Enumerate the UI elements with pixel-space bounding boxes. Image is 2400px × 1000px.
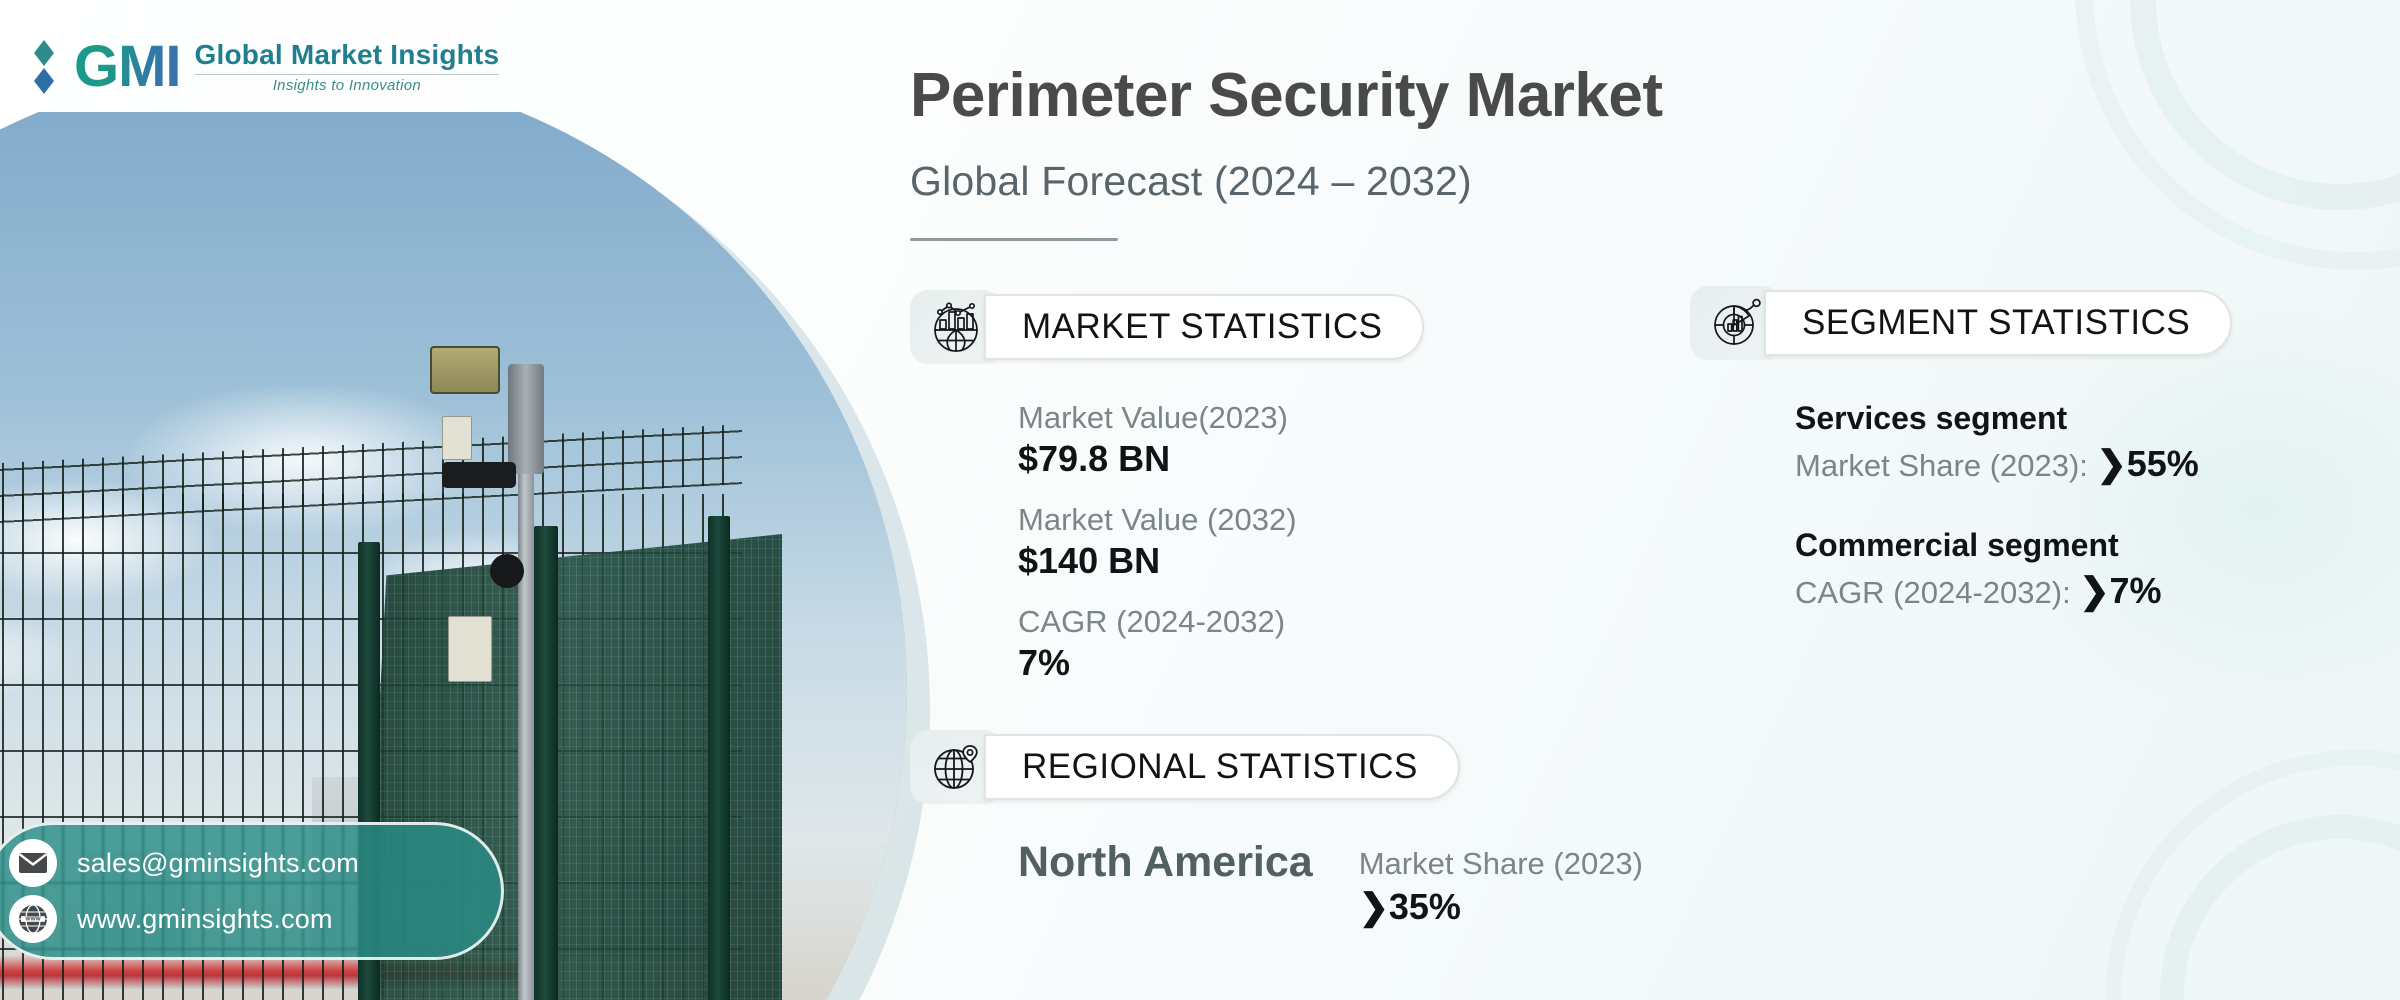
region-metric-value: ❯35% bbox=[1359, 886, 1643, 928]
page-title: Perimeter Security Market bbox=[910, 60, 1663, 131]
region-metric-label: Market Share (2023) bbox=[1359, 846, 1643, 882]
market-stat-label: Market Value (2032) bbox=[1018, 502, 1297, 538]
photo-mast-housing bbox=[508, 364, 544, 474]
logo-tagline: Insights to Innovation bbox=[195, 77, 500, 94]
content-column: Perimeter Security Market Global Forecas… bbox=[900, 0, 2400, 1000]
segment-metric-value: ❯7% bbox=[2079, 570, 2161, 611]
segment-metric-row: Market Share (2023): ❯55% bbox=[1795, 443, 2199, 485]
market-stat-row: Market Value (2032) $140 BN bbox=[1018, 502, 1297, 582]
spacer bbox=[1018, 582, 1297, 604]
photo-cctv-camera bbox=[442, 462, 516, 488]
logo-text-block: Global Market Insights Insights to Innov… bbox=[195, 40, 500, 94]
photo-fence-post-2 bbox=[534, 526, 558, 1000]
market-statistics-body: Market Value(2023) $79.8 BN Market Value… bbox=[1018, 400, 1297, 684]
region-metric-block: Market Share (2023) ❯35% bbox=[1359, 840, 1643, 928]
market-stat-row: Market Value(2023) $79.8 BN bbox=[1018, 400, 1297, 480]
market-statistics-header[interactable]: MARKET STATISTICS bbox=[910, 290, 1424, 364]
market-stat-value: 7% bbox=[1018, 642, 1297, 684]
logo-wordmark: GMI bbox=[74, 38, 181, 96]
segment-name: Services segment bbox=[1795, 400, 2199, 437]
spacer bbox=[1795, 485, 2199, 527]
photo-fence-post-3 bbox=[708, 516, 730, 1000]
market-stat-value: $79.8 BN bbox=[1018, 438, 1297, 480]
www-globe-icon: WWW bbox=[9, 895, 57, 943]
contact-pill: sales@gminsights.com WWW www.gminsights.… bbox=[0, 822, 504, 960]
market-statistics-heading: MARKET STATISTICS bbox=[1022, 307, 1382, 347]
photo-flood-lamp bbox=[430, 346, 500, 394]
title-divider bbox=[910, 238, 1118, 241]
region-row: North America Market Share (2023) ❯35% bbox=[1018, 840, 1643, 928]
logo-divider bbox=[195, 74, 500, 75]
regional-statistics-header[interactable]: REGIONAL STATISTICS bbox=[910, 730, 1460, 804]
segment-statistics-heading: SEGMENT STATISTICS bbox=[1802, 303, 2190, 343]
region-name: North America bbox=[1018, 840, 1313, 886]
market-stat-label: Market Value(2023) bbox=[1018, 400, 1297, 436]
regional-statistics-heading: REGIONAL STATISTICS bbox=[1022, 747, 1418, 787]
brand-logo[interactable]: GMI Global Market Insights Insights to I… bbox=[30, 36, 499, 98]
segment-statistics-body: Services segment Market Share (2023): ❯5… bbox=[1795, 400, 2199, 612]
market-stat-value: $140 BN bbox=[1018, 540, 1297, 582]
segment-statistics-header[interactable]: SEGMENT STATISTICS bbox=[1690, 286, 2232, 360]
segment-block: Commercial segment CAGR (2024-2032): ❯7% bbox=[1795, 527, 2199, 612]
gmi-diamond-logo-icon bbox=[30, 36, 60, 98]
photo-junction-box-2 bbox=[448, 616, 492, 682]
spacer bbox=[1018, 480, 1297, 502]
photo-junction-box-1 bbox=[442, 416, 472, 460]
segment-metric-label: Market Share (2023): bbox=[1795, 448, 2097, 483]
contact-website-text: www.gminsights.com bbox=[77, 904, 333, 935]
segment-block: Services segment Market Share (2023): ❯5… bbox=[1795, 400, 2199, 485]
logo-company-name: Global Market Insights bbox=[195, 40, 500, 71]
envelope-icon bbox=[9, 839, 57, 887]
infographic-canvas: GMI Global Market Insights Insights to I… bbox=[0, 0, 2400, 1000]
segment-metric-row: CAGR (2024-2032): ❯7% bbox=[1795, 570, 2199, 612]
photo-dome-camera bbox=[490, 554, 524, 588]
contact-email-row[interactable]: sales@gminsights.com bbox=[9, 839, 501, 887]
market-stat-row: CAGR (2024-2032) 7% bbox=[1018, 604, 1297, 684]
segment-metric-value: ❯55% bbox=[2097, 443, 2199, 484]
segment-metric-label: CAGR (2024-2032): bbox=[1795, 575, 2079, 610]
regional-statistics-label-pill[interactable]: REGIONAL STATISTICS bbox=[984, 734, 1460, 800]
regional-statistics-body: North America Market Share (2023) ❯35% bbox=[1018, 840, 1643, 928]
market-stat-label: CAGR (2024-2032) bbox=[1018, 604, 1297, 640]
page-subtitle: Global Forecast (2024 – 2032) bbox=[910, 158, 1472, 205]
segment-statistics-label-pill[interactable]: SEGMENT STATISTICS bbox=[1764, 290, 2232, 356]
market-statistics-label-pill[interactable]: MARKET STATISTICS bbox=[984, 294, 1424, 360]
svg-text:WWW: WWW bbox=[25, 917, 41, 923]
contact-website-row[interactable]: WWW www.gminsights.com bbox=[9, 895, 501, 943]
segment-name: Commercial segment bbox=[1795, 527, 2199, 564]
contact-email-text: sales@gminsights.com bbox=[77, 848, 359, 879]
